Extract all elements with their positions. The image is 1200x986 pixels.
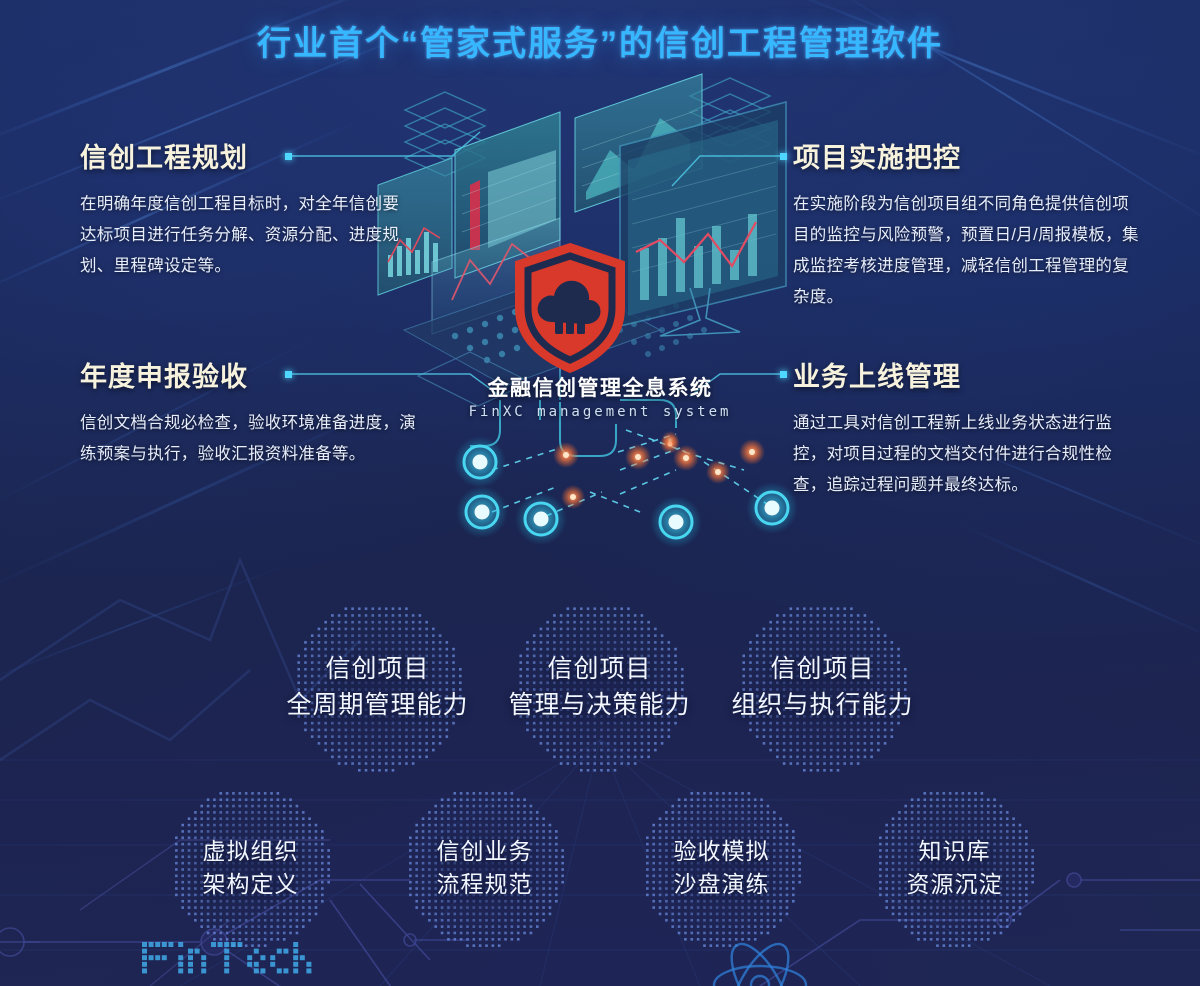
feature-body: 在实施阶段为信创项目组不同角色提供信创项目的监控与风险预警，预置日/月/周报模板…	[793, 189, 1143, 313]
system-name-label: 金融信创管理全息系统 FinXC management system	[0, 372, 1200, 420]
sphere-label-line2: 沙盘演练	[674, 868, 770, 901]
sphere-label-line2: 架构定义	[203, 868, 299, 901]
fintech-wordmark	[140, 930, 370, 986]
feature-heading: 项目实施把控	[793, 136, 1143, 175]
connector-dot-implementation	[780, 153, 787, 160]
shield-cloud-chart-icon	[508, 240, 632, 376]
system-name-cn: 金融信创管理全息系统	[0, 372, 1200, 402]
feature-block-implementation: 项目实施把控 在实施阶段为信创项目组不同角色提供信创项目的监控与风险预警，预置日…	[793, 136, 1143, 313]
sphere-label-line1: 虚拟组织	[203, 835, 299, 868]
capability-sphere-bottom-2: 信创业务 流程规范	[402, 785, 567, 950]
capability-sphere-bottom-4: 知识库 资源沉淀	[872, 785, 1037, 950]
sphere-label-line2: 组织与执行能力	[732, 688, 914, 724]
page-title: 行业首个“管家式服务”的信创工程管理软件	[0, 16, 1200, 65]
sphere-label-line1: 信创项目	[287, 652, 469, 688]
feature-block-planning: 信创工程规划 在明确年度信创工程目标时，对全年信创要达标项目进行任务分解、资源分…	[80, 136, 410, 282]
sphere-label-line1: 信创业务	[437, 835, 533, 868]
system-name-en: FinXC management system	[0, 404, 1200, 420]
feature-heading: 信创工程规划	[80, 136, 410, 175]
sphere-label-line1: 信创项目	[509, 652, 691, 688]
feature-body: 在明确年度信创工程目标时，对全年信创要达标项目进行任务分解、资源分配、进度规划、…	[80, 189, 410, 282]
capability-sphere-bottom-3: 验收模拟 沙盘演练	[639, 785, 804, 950]
sphere-label-line2: 流程规范	[437, 868, 533, 901]
connector-dot-planning	[285, 153, 292, 160]
capability-sphere-middle-3: 信创项目 组织与执行能力	[735, 600, 910, 775]
sphere-label-line2: 资源沉淀	[907, 868, 1003, 901]
sphere-label-line1: 信创项目	[732, 652, 914, 688]
atom-icon	[700, 930, 820, 986]
capability-sphere-bottom-1: 虚拟组织 架构定义	[168, 785, 333, 950]
sphere-label-line2: 管理与决策能力	[509, 688, 691, 724]
sphere-label-line1: 验收模拟	[674, 835, 770, 868]
feature-body: 通过工具对信创工程新上线业务状态进行监控，对项目过程的文档交付件进行合规性检查，…	[793, 408, 1143, 501]
infographic-canvas: 信创项目 全周期管理能力 信创项目 管理与决策能力 信创项目 组织与执行能力 虚…	[0, 0, 1200, 986]
capability-sphere-middle-1: 信创项目 全周期管理能力	[290, 600, 465, 775]
sphere-label-line1: 知识库	[907, 835, 1003, 868]
capability-sphere-middle-2: 信创项目 管理与决策能力	[512, 600, 687, 775]
sphere-label-line2: 全周期管理能力	[287, 688, 469, 724]
